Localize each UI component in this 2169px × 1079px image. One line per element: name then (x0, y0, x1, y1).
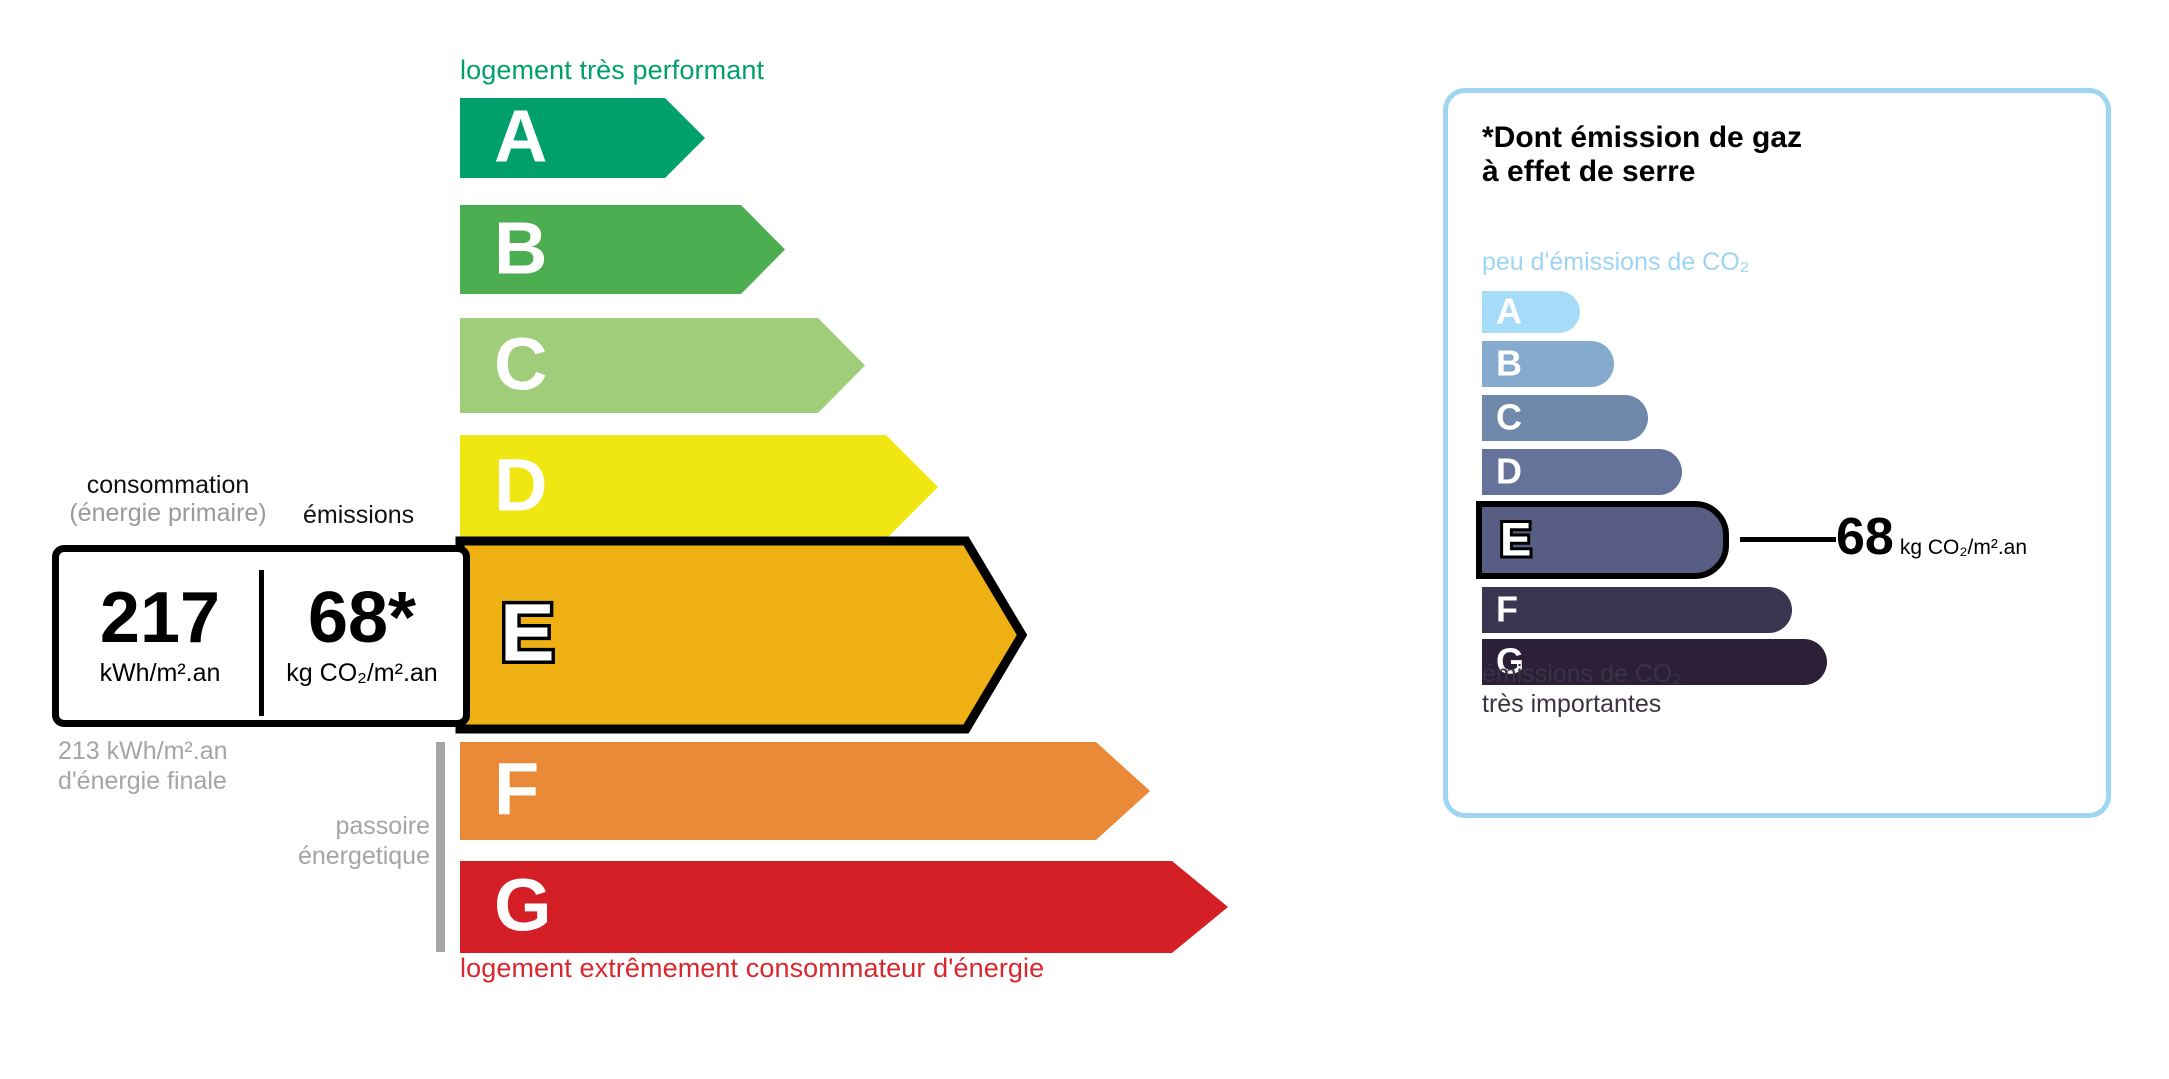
energy-top-caption: logement très performant (460, 55, 764, 86)
co2-panel: *Dont émission de gaz à effet de serre p… (1443, 88, 2111, 818)
final-energy-line2: d'énergie finale (58, 767, 227, 795)
co2-title-line1: *Dont émission de gaz (1482, 121, 1802, 154)
passoire-note: passoire énergetique (180, 812, 430, 871)
energy-band-e-letter: E (500, 592, 555, 674)
energy-band-e-selected: E (456, 537, 1028, 733)
co2-bar-c-letter: C (1496, 399, 1522, 435)
co2-value: 68 (1836, 508, 1894, 566)
energy-band-d-letter: D (494, 449, 547, 523)
co2-bar-f: F (1482, 587, 1792, 633)
energy-band-f-letter: F (494, 753, 539, 827)
emissions-value: 68* (308, 584, 416, 652)
co2-bottom-line1: émissions de CO₂ (1482, 660, 1682, 688)
energy-bottom-caption: logement extrêmement consommateur d'éner… (460, 953, 1044, 984)
energy-band-a: A (460, 98, 705, 178)
co2-value-group: 68kg CO₂/m².an (1836, 511, 2027, 563)
consumption-label-sub: (énergie primaire) (52, 499, 284, 527)
co2-bottom-line2: très importantes (1482, 690, 1661, 718)
co2-bottom-caption: émissions de CO₂ très importantes (1482, 660, 1682, 719)
value-plate: 217 kWh/m².an 68* kg CO₂/m².an (52, 545, 470, 727)
passoire-line1: passoire (336, 812, 431, 840)
energy-band-a-letter: A (494, 100, 547, 174)
energy-band-d: D (460, 435, 938, 539)
energy-scale: logement très performant A B C (0, 0, 1300, 1079)
emissions-unit: kg CO₂/m².an (286, 659, 437, 688)
final-energy-note: 213 kWh/m².an d'énergie finale (58, 736, 228, 796)
energy-band-b: B (460, 205, 785, 294)
co2-title-line2: à effet de serre (1482, 155, 1695, 188)
co2-bar-b-letter: B (1496, 345, 1522, 381)
passoire-marker-bar (436, 742, 445, 952)
co2-leader-line (1740, 537, 1836, 542)
energy-band-g: G (460, 861, 1228, 953)
consumption-value-cell: 217 kWh/m².an (59, 552, 261, 720)
co2-bar-d: D (1482, 449, 1682, 495)
co2-bar-e-letter: E (1500, 516, 1531, 563)
passoire-line2: énergetique (298, 842, 430, 870)
emissions-value-cell: 68* kg CO₂/m².an (261, 552, 463, 720)
energy-band-c: C (460, 318, 865, 413)
co2-panel-title: *Dont émission de gaz à effet de serre (1482, 121, 1802, 189)
co2-bar-a-letter: A (1496, 293, 1522, 329)
energy-band-c-letter: C (494, 327, 547, 401)
co2-unit: kg CO₂/m².an (1900, 536, 2027, 559)
co2-bar-e-selected: E (1476, 501, 1729, 579)
emissions-label: émissions (303, 501, 414, 530)
co2-bar-a: A (1482, 291, 1580, 333)
energy-band-g-letter: G (494, 869, 552, 943)
consumption-value: 217 (100, 584, 220, 652)
consumption-label-main: consommation (87, 471, 250, 499)
co2-top-caption: peu d'émissions de CO₂ (1482, 248, 1749, 277)
co2-bar-b: B (1482, 341, 1614, 387)
consumption-label: consommation (énergie primaire) (52, 471, 284, 527)
consumption-unit: kWh/m².an (100, 659, 221, 688)
dpe-diagram: logement très performant A B C (0, 0, 2169, 1079)
co2-bar-d-letter: D (1496, 453, 1522, 489)
final-energy-line1: 213 kWh/m².an (58, 737, 228, 765)
energy-band-b-letter: B (494, 211, 547, 285)
co2-bar-c: C (1482, 395, 1648, 441)
energy-band-f: F (460, 742, 1150, 840)
co2-bar-f-letter: F (1496, 591, 1518, 627)
